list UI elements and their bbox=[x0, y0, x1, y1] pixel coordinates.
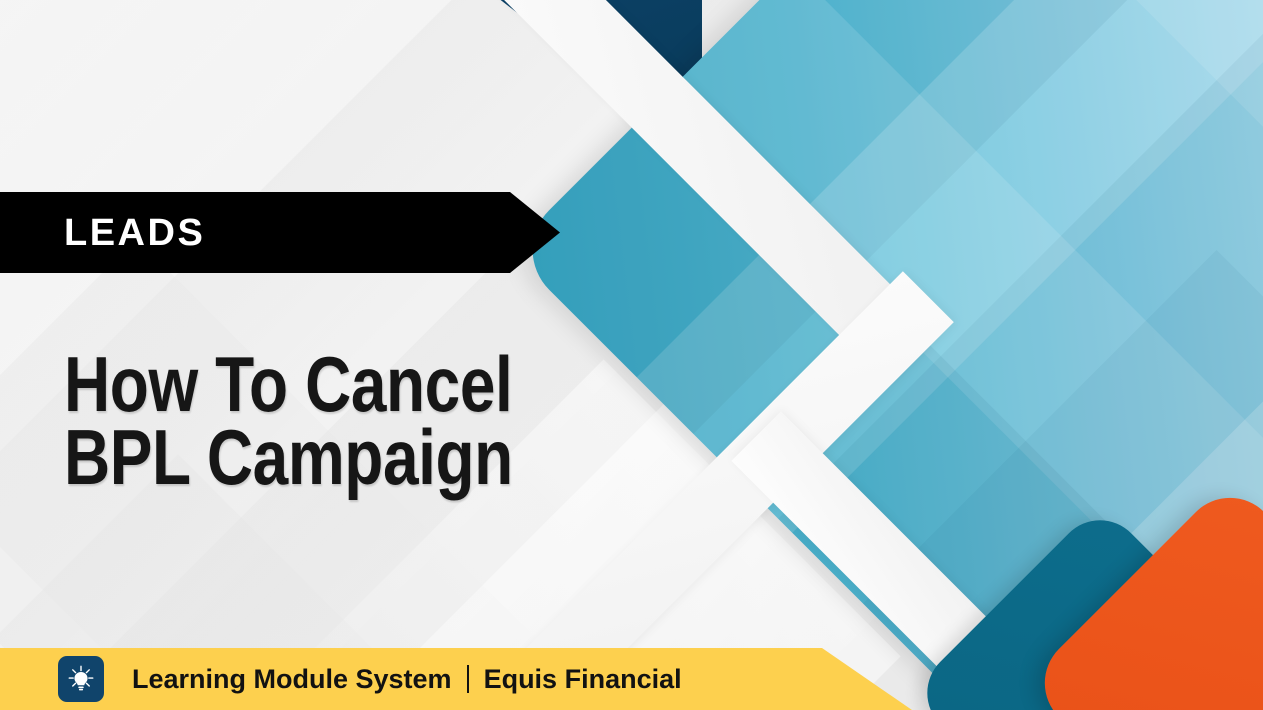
category-banner: LEADS bbox=[0, 192, 560, 273]
presentation-slide: LEADS How To Cancel BPL Campaign bbox=[0, 0, 1263, 710]
lightbulb-icon-tile bbox=[58, 656, 104, 702]
title-line-1: How To Cancel bbox=[64, 348, 572, 421]
title-line-2: BPL Campaign bbox=[64, 421, 572, 494]
footer-company-label: Equis Financial bbox=[484, 664, 682, 695]
footer-text-group: Learning Module System Equis Financial bbox=[132, 664, 682, 695]
page-title: How To Cancel BPL Campaign bbox=[64, 348, 684, 493]
footer-divider bbox=[467, 665, 469, 693]
category-banner-label: LEADS bbox=[64, 214, 205, 252]
footer-brand-label: Learning Module System bbox=[132, 664, 452, 695]
lightbulb-icon bbox=[66, 664, 96, 694]
footer-content: Learning Module System Equis Financial bbox=[0, 648, 682, 710]
